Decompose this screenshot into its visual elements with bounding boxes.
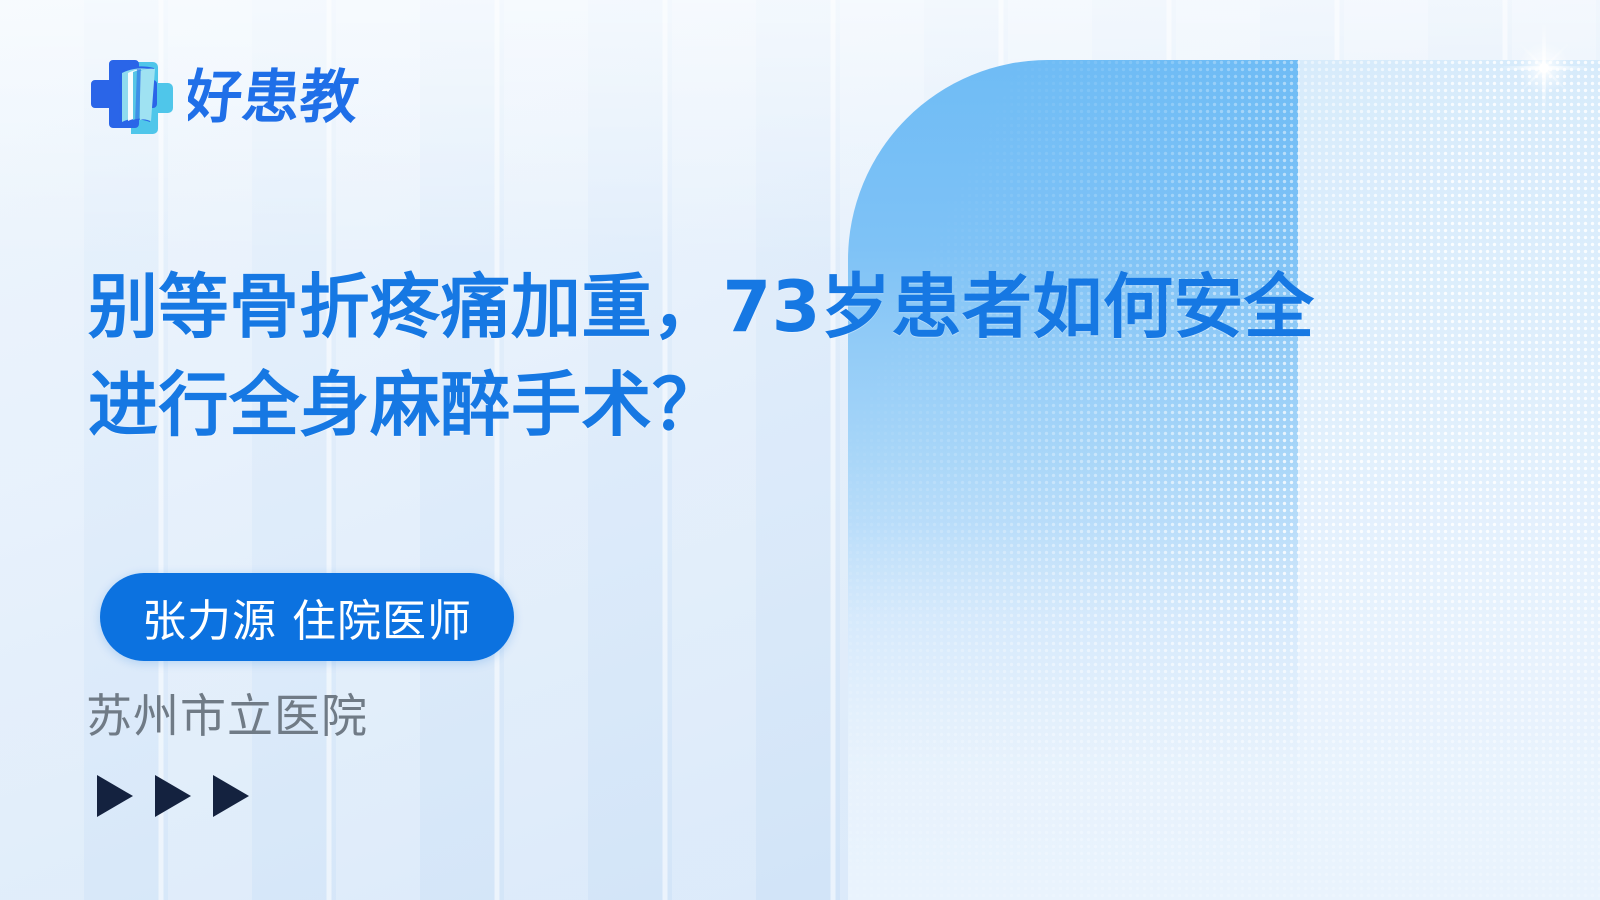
play-triangle-icon — [209, 772, 253, 820]
decorative-panel-core — [848, 60, 1298, 900]
brand-wordmark: 好患教 — [188, 62, 418, 130]
decorative-panel — [848, 60, 1600, 900]
arrow-row — [93, 772, 253, 820]
play-triangle-icon — [151, 772, 195, 820]
medical-cross-book-icon — [88, 52, 174, 140]
decorative-panel-halftone-dots — [848, 60, 1600, 900]
sparkle-star-icon — [1498, 22, 1590, 114]
decorative-panel-right-wash — [1298, 60, 1600, 900]
decorative-panel-bottom-fade — [848, 60, 1600, 900]
brand-wordmark-text: 好患教 — [188, 63, 362, 130]
page-title: 别等骨折疼痛加重，73岁患者如何安全 进行全身麻醉手术？ — [88, 258, 1418, 454]
play-triangle-icon — [93, 772, 137, 820]
brand-logo: 好患教 — [88, 52, 418, 140]
hospital-name: 苏州市立医院 — [86, 680, 368, 746]
title-card-canvas: 好患教 别等骨折疼痛加重，73岁患者如何安全 进行全身麻醉手术？ 张力源 住院医… — [0, 0, 1600, 900]
doctor-name-badge: 张力源 住院医师 — [100, 573, 514, 661]
